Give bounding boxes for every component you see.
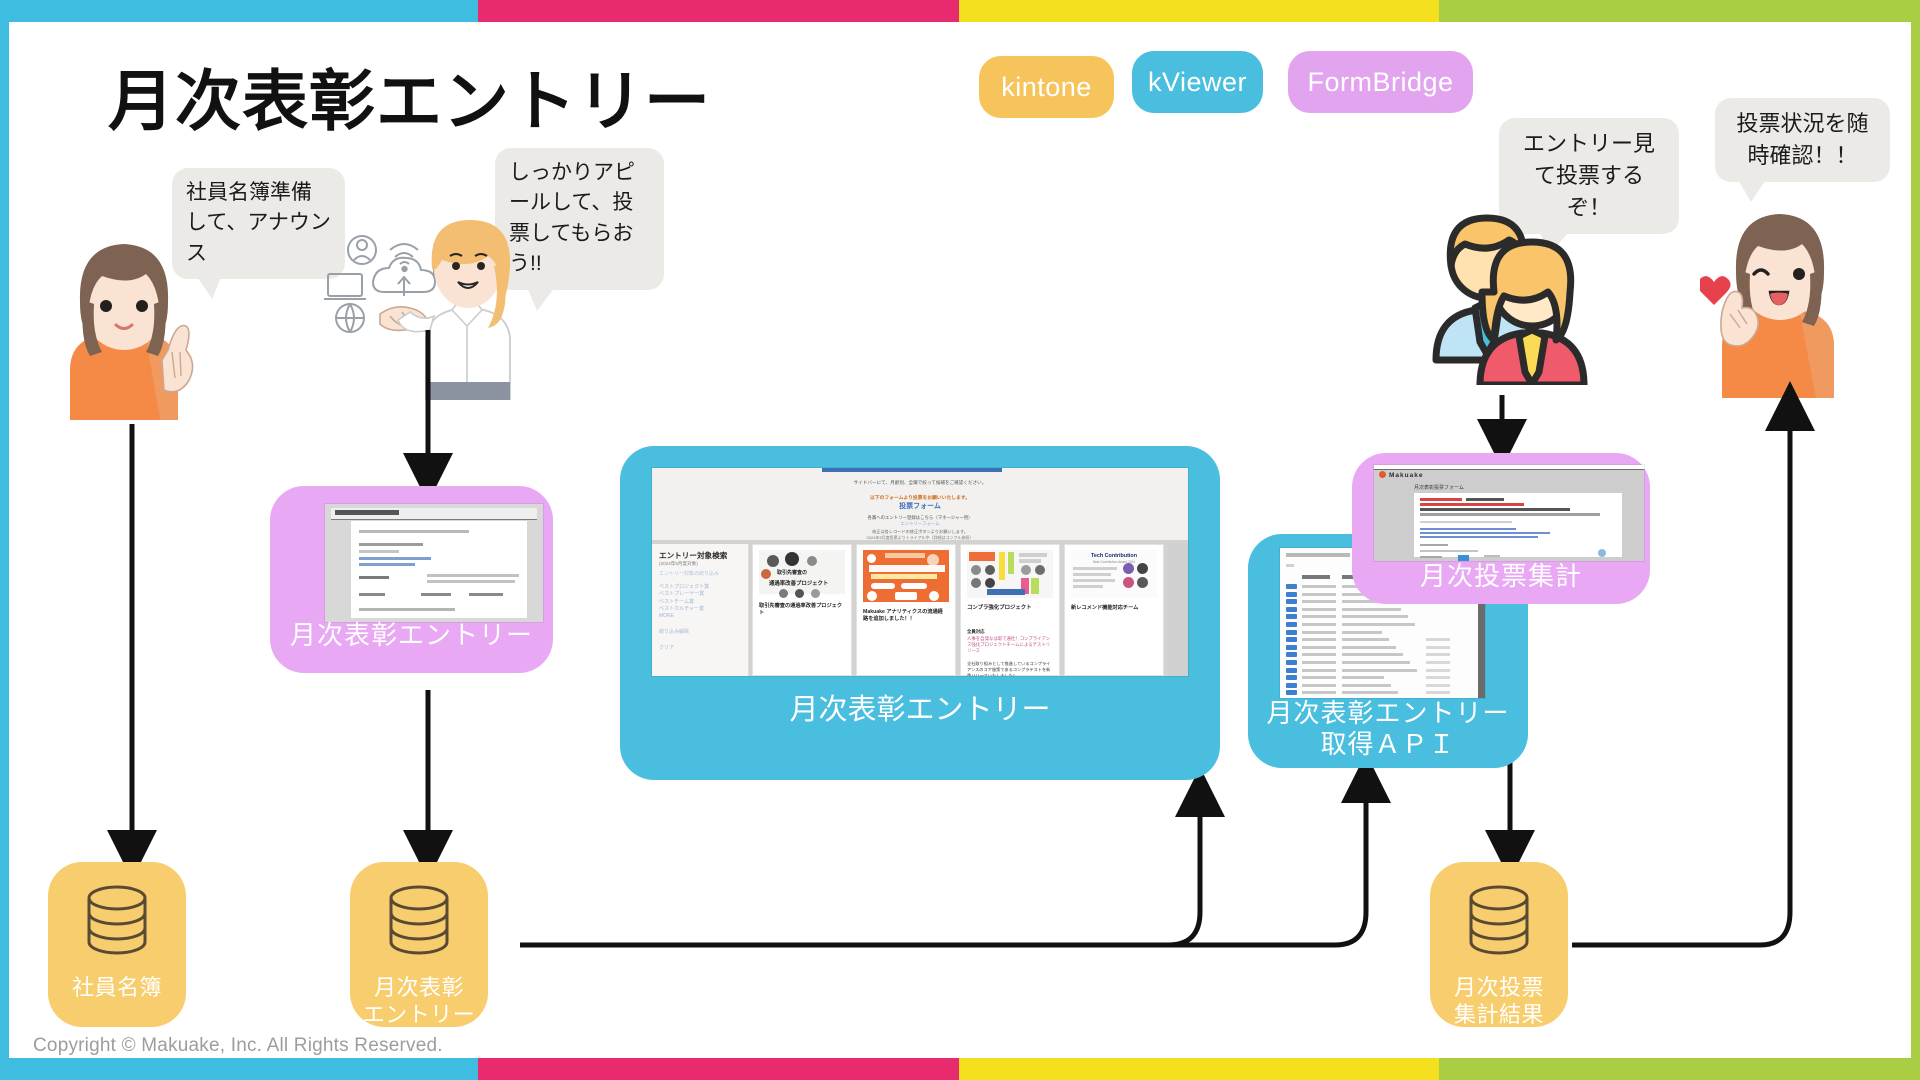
card-entry-form-label: 月次表彰エントリー [270, 620, 553, 651]
person-voters-illustration [1418, 210, 1588, 385]
person-promoter-illustration [318, 210, 538, 400]
service-pill-label: FormBridge [1307, 67, 1453, 98]
speech-bubble-checker: 投票状況を随時確認！！ [1715, 98, 1890, 182]
database-icon [81, 882, 153, 971]
card-vote-aggregate[interactable]: Makuake 月次表彰投票フォーム 月次投票集計 [1352, 453, 1650, 604]
cloud-icon [373, 258, 435, 296]
laptop-icon [324, 274, 366, 299]
top-color-band [0, 0, 1920, 22]
database-icon [383, 882, 455, 971]
arrow-entrydb-to-api [520, 778, 1366, 945]
database-icon [1463, 882, 1535, 971]
person-hr-illustration [50, 230, 200, 420]
card-entry-form[interactable]: 月次表彰エントリー [270, 486, 553, 673]
service-pill-label: kViewer [1148, 67, 1247, 98]
globe-icon [336, 304, 364, 332]
speech-bubble-text: 社員名簿準備して、アナウンス [186, 181, 331, 265]
card-entry-list-screenshot: サイドバーにて、月齢別、全職で絞って候補をご確認ください。 以下のフォームより投… [652, 468, 1188, 676]
service-pill-formbridge[interactable]: FormBridge [1288, 51, 1473, 113]
card-entry-form-screenshot [325, 504, 543, 622]
db-node-entries[interactable]: 月次表彰 エントリー [350, 862, 488, 1027]
card-entry-api-label-line2: 取得ＡＰＩ [1248, 729, 1528, 760]
arrow-entrydb-to-list [520, 792, 1200, 945]
card-entry-list-label: 月次表彰エントリー [620, 686, 1220, 728]
service-pill-label: kintone [1001, 72, 1092, 103]
person-checker-illustration [1700, 198, 1860, 398]
service-pill-kviewer[interactable]: kViewer [1132, 51, 1263, 113]
copyright-text: Copyright © Makuake, Inc. All Rights Res… [33, 1035, 443, 1057]
speech-bubble-text: 投票状況を随時確認！！ [1736, 111, 1868, 168]
db-node-roster-label: 社員名簿 [72, 975, 162, 1002]
card-entry-list[interactable]: サイドバーにて、月齢別、全職で絞って候補をご確認ください。 以下のフォームより投… [620, 446, 1220, 780]
aggregate-form-title: 月次表彰投票フォーム [1414, 484, 1464, 491]
card-entry-api-label-line1: 月次表彰エントリー [1248, 698, 1528, 729]
db-node-results[interactable]: 月次投票 集計結果 [1430, 862, 1568, 1027]
left-rail [0, 22, 9, 1058]
user-icon [348, 236, 376, 264]
card-vote-aggregate-screenshot: Makuake 月次表彰投票フォーム [1374, 465, 1644, 561]
aggregate-brand: Makuake [1389, 472, 1423, 479]
db-node-results-label: 月次投票 集計結果 [1454, 975, 1544, 1029]
card-entry-api-label: 月次表彰エントリー 取得ＡＰＩ [1248, 698, 1528, 759]
card-vote-aggregate-label: 月次投票集計 [1352, 561, 1650, 592]
db-node-entries-label: 月次表彰 エントリー [363, 975, 476, 1029]
db-node-roster[interactable]: 社員名簿 [48, 862, 186, 1027]
right-rail [1911, 22, 1920, 1058]
slide-canvas: 月次表彰エントリー kintone kViewer FormBridge 社員名… [0, 0, 1920, 1080]
bottom-color-band [0, 1058, 1920, 1080]
speech-bubble-text: エントリー見て投票するぞ！ [1523, 131, 1655, 220]
service-pill-kintone[interactable]: kintone [979, 56, 1114, 118]
page-title: 月次表彰エントリー [108, 48, 711, 144]
